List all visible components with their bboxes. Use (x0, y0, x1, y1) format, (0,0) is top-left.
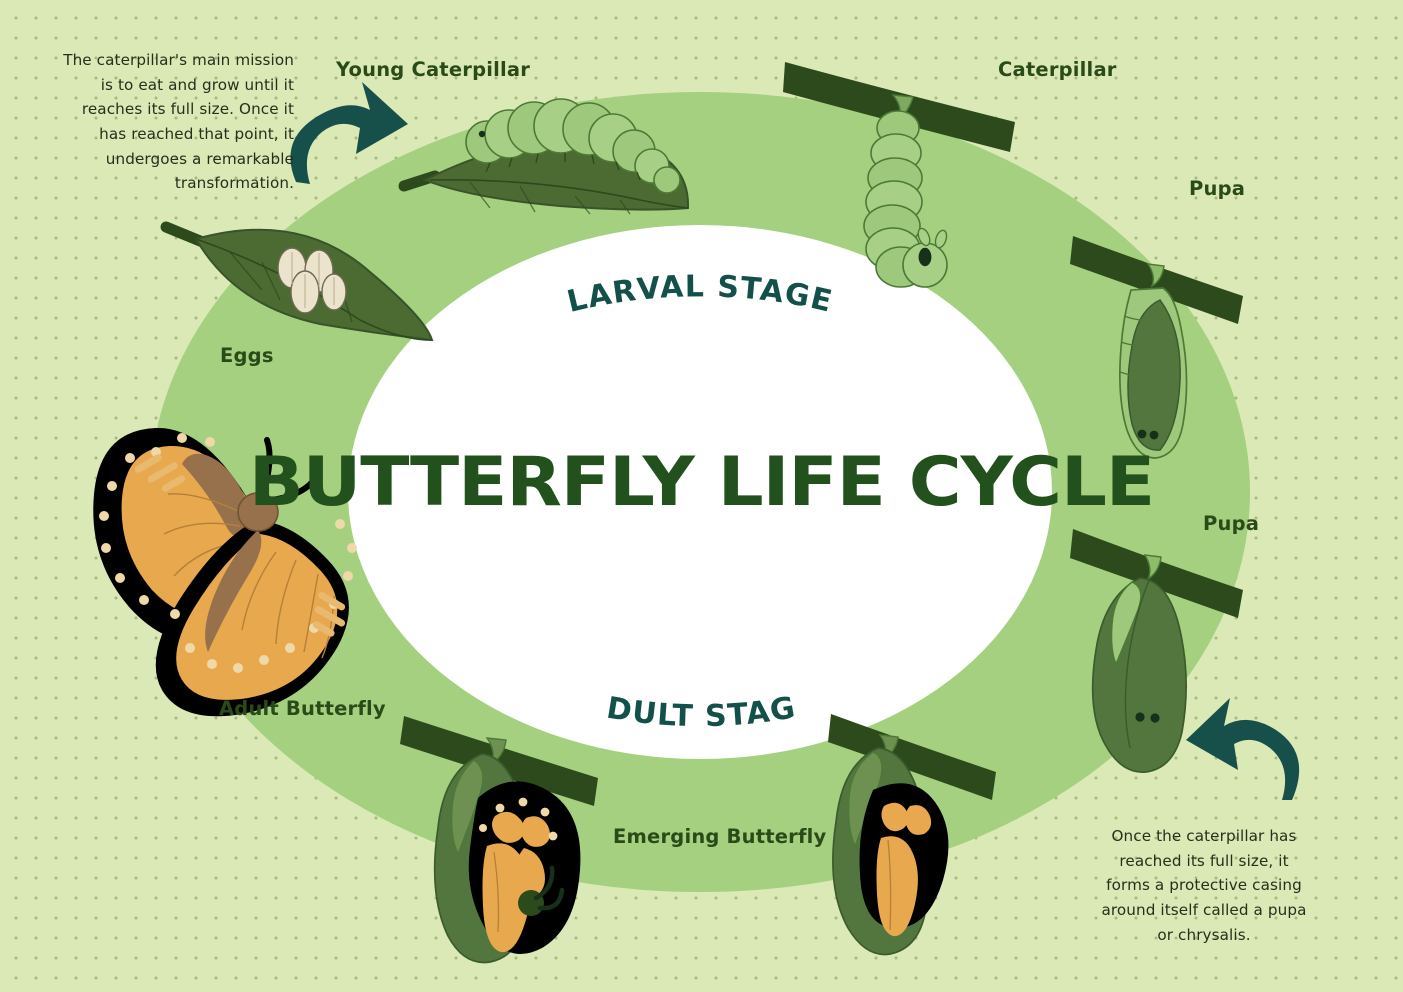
infographic-canvas: LARVAL STAGE ADULT STAGE BUTTERFLY LIFE … (0, 0, 1403, 992)
label-eggs: Eggs (220, 344, 274, 367)
label-young-caterpillar: Young Caterpillar (336, 58, 530, 81)
label-pupa-1: Pupa (1189, 177, 1245, 200)
label-adult-butterfly: Adult Butterfly (219, 697, 386, 720)
label-pupa-2: Pupa (1203, 512, 1259, 535)
arrow-down-right (1186, 698, 1299, 800)
note-pupa-formation: Once the caterpillar has reached its ful… (1098, 824, 1310, 947)
label-caterpillar: Caterpillar (998, 58, 1117, 81)
note-caterpillar-mission: The caterpillar's main mission is to eat… (56, 48, 294, 196)
page-title: BUTTERFLY LIFE CYCLE (0, 443, 1403, 522)
label-emerging-butterfly: Emerging Butterfly (613, 825, 826, 848)
